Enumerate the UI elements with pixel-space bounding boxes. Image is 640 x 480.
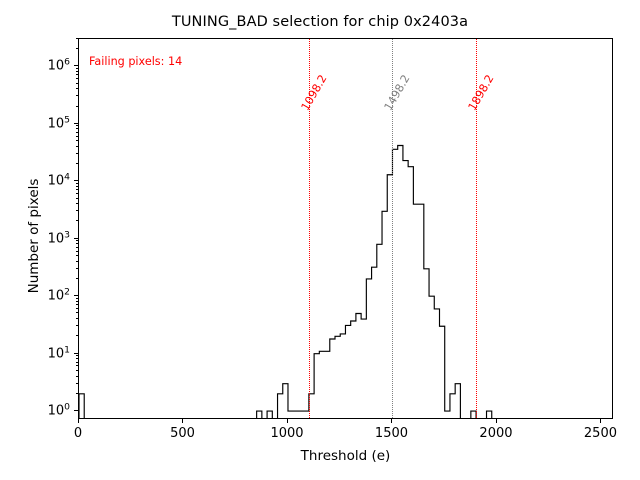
y-tick-minor bbox=[76, 132, 78, 133]
failing-pixels-annotation: Failing pixels: 14 bbox=[89, 55, 182, 68]
y-tick-minor bbox=[76, 365, 78, 366]
y-tick-minor bbox=[76, 278, 78, 279]
y-tick-minor bbox=[76, 203, 78, 204]
y-tick-mark bbox=[74, 65, 78, 66]
y-tick-minor bbox=[76, 261, 78, 262]
y-tick-minor bbox=[76, 78, 78, 79]
y-tick-minor bbox=[76, 183, 78, 184]
y-tick-minor bbox=[76, 128, 78, 129]
y-tick-minor bbox=[76, 376, 78, 377]
y-tick-minor bbox=[76, 325, 78, 326]
y-tick-minor bbox=[76, 186, 78, 187]
y-tick-minor bbox=[76, 298, 78, 299]
y-tick-minor bbox=[76, 335, 78, 336]
y-tick-minor bbox=[76, 193, 78, 194]
y-tick-minor bbox=[76, 198, 78, 199]
y-tick-minor bbox=[76, 38, 78, 39]
y-tick-minor bbox=[76, 48, 78, 49]
y-tick-minor bbox=[76, 220, 78, 221]
y-tick-minor bbox=[76, 370, 78, 371]
y-tick-mark bbox=[74, 180, 78, 181]
y-tick-minor bbox=[76, 95, 78, 96]
y-tick-minor bbox=[76, 255, 78, 256]
y-tick-minor bbox=[76, 83, 78, 84]
y-tick-label: 104 bbox=[16, 172, 70, 189]
y-tick-minor bbox=[76, 74, 78, 75]
histogram-steps bbox=[79, 39, 612, 418]
y-tick-minor bbox=[76, 210, 78, 211]
y-tick-mark bbox=[74, 123, 78, 124]
y-tick-minor bbox=[76, 240, 78, 241]
y-tick-minor bbox=[76, 308, 78, 309]
y-tick-minor bbox=[76, 189, 78, 190]
y-tick-minor bbox=[76, 125, 78, 126]
x-tick-mark bbox=[496, 419, 497, 423]
x-tick-mark bbox=[391, 419, 392, 423]
y-tick-minor bbox=[76, 146, 78, 147]
plot-area: Failing pixels: 14 bbox=[78, 38, 613, 419]
y-tick-label: 102 bbox=[16, 287, 70, 304]
y-tick-minor bbox=[76, 140, 78, 141]
y-tick-minor bbox=[76, 243, 78, 244]
y-tick-label: 100 bbox=[16, 401, 70, 418]
x-tick-mark bbox=[78, 419, 79, 423]
y-axis-label: Number of pixels bbox=[26, 116, 42, 356]
x-tick-mark bbox=[600, 419, 601, 423]
y-tick-label: 105 bbox=[16, 114, 70, 131]
y-tick-minor bbox=[76, 106, 78, 107]
histogram-outline bbox=[79, 146, 492, 419]
y-tick-label: 103 bbox=[16, 229, 70, 246]
y-tick-minor bbox=[76, 362, 78, 363]
y-tick-mark bbox=[74, 238, 78, 239]
y-tick-minor bbox=[76, 312, 78, 313]
y-tick-minor bbox=[76, 268, 78, 269]
x-tick-label: 0 bbox=[74, 426, 82, 441]
x-tick-label: 1000 bbox=[270, 426, 303, 441]
y-tick-minor bbox=[76, 251, 78, 252]
x-tick-label: 2500 bbox=[584, 426, 617, 441]
y-tick-minor bbox=[76, 301, 78, 302]
y-tick-mark bbox=[74, 295, 78, 296]
y-tick-minor bbox=[76, 247, 78, 248]
y-tick-minor bbox=[76, 355, 78, 356]
y-tick-minor bbox=[76, 383, 78, 384]
x-tick-label: 500 bbox=[170, 426, 195, 441]
y-tick-minor bbox=[76, 304, 78, 305]
y-tick-label: 101 bbox=[16, 344, 70, 361]
y-tick-minor bbox=[76, 68, 78, 69]
y-tick-minor bbox=[76, 358, 78, 359]
plot-inner bbox=[79, 39, 612, 418]
y-tick-label: 106 bbox=[16, 57, 70, 74]
y-tick-minor bbox=[76, 136, 78, 137]
histogram-figure: TUNING_BAD selection for chip 0x2403a Fa… bbox=[0, 0, 640, 480]
x-tick-mark bbox=[287, 419, 288, 423]
y-tick-minor bbox=[76, 318, 78, 319]
y-tick-mark bbox=[74, 353, 78, 354]
y-tick-minor bbox=[76, 163, 78, 164]
x-tick-mark bbox=[182, 419, 183, 423]
y-tick-minor bbox=[76, 71, 78, 72]
y-tick-mark bbox=[74, 410, 78, 411]
y-tick-minor bbox=[76, 153, 78, 154]
x-tick-label: 2000 bbox=[479, 426, 512, 441]
y-tick-minor bbox=[76, 393, 78, 394]
chart-title: TUNING_BAD selection for chip 0x2403a bbox=[0, 14, 640, 30]
x-axis-label: Threshold (e) bbox=[78, 448, 613, 464]
x-tick-label: 1500 bbox=[375, 426, 408, 441]
y-tick-minor bbox=[76, 88, 78, 89]
